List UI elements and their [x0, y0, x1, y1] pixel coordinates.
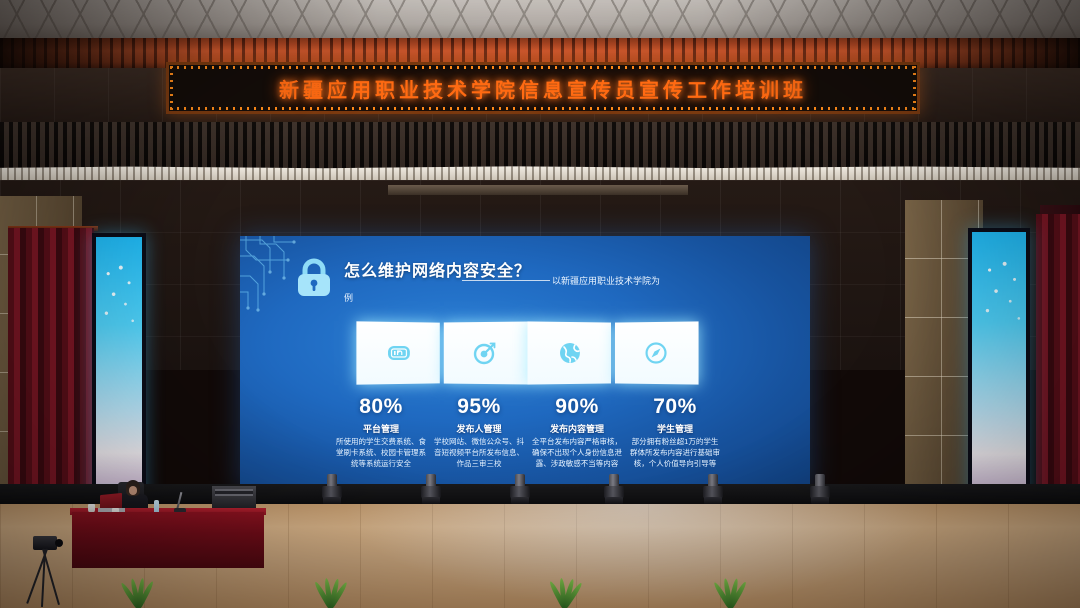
- stat-body: 学校网站、微信公众号、抖音短视频平台所发布信息、作品三审三校: [433, 437, 525, 470]
- presenter-face: [129, 486, 137, 495]
- floor-reflection: [340, 504, 940, 608]
- moving-head-stage-light: [604, 474, 624, 504]
- icon-card-row: [356, 322, 698, 384]
- stat-percent: 95%: [433, 396, 525, 417]
- decorative-plant: [700, 574, 756, 608]
- camera-lens-icon: [55, 539, 63, 547]
- decorative-plant: [534, 574, 590, 608]
- stat-percent: 70%: [629, 396, 721, 417]
- compass-icon: [642, 340, 668, 366]
- stat-item: 90% 发布内容管理 全平台发布内容严格审核，确保不出现个人身份信息泄露、涉政敏…: [528, 396, 626, 470]
- ceiling-shading: [0, 0, 1080, 40]
- curtain-left: [8, 228, 94, 528]
- main-led-screen: 怎么维护网络内容安全？ 以新疆应用职业技术学院为 例: [240, 236, 810, 490]
- icon-card: [356, 321, 439, 384]
- ceiling-lattice: [0, 0, 1080, 40]
- slide-subtitle-wrap: 例: [344, 291, 353, 304]
- icon-card: [614, 321, 697, 384]
- moving-head-stage-light: [703, 474, 723, 504]
- stat-item: 95% 发布人管理 学校网站、微信公众号、抖音短视频平台所发布信息、作品三审三校: [430, 396, 528, 470]
- decorative-plant: [108, 574, 164, 608]
- slide-subtitle: 以新疆应用职业技术学院为: [552, 274, 660, 287]
- camera-tripod: [24, 536, 64, 608]
- stat-title: 学生管理: [629, 422, 721, 435]
- bubble-cluster-icon: [101, 260, 138, 336]
- target-dart-icon: [471, 340, 497, 366]
- stat-item: 80% 平台管理 所使用的学生交费系统、食堂刷卡系统、校园卡管理系统等系统运行安…: [332, 396, 430, 470]
- moving-head-stage-light: [510, 474, 530, 504]
- stat-percent: 80%: [335, 396, 427, 417]
- stage-valance-curtain: [0, 122, 1080, 168]
- moving-head-stage-light: [810, 474, 830, 504]
- moving-head-stage-light: [322, 474, 342, 504]
- stat-body: 所使用的学生交费系统、食堂刷卡系统、校园卡管理系统等系统运行安全: [335, 437, 427, 470]
- decorative-plant: [300, 574, 356, 608]
- stat-percent: 90%: [531, 396, 623, 417]
- stage-base-strip: [0, 484, 1080, 506]
- globe-icon: [557, 340, 583, 366]
- icon-card: [443, 322, 526, 385]
- presenter-table: [72, 512, 264, 568]
- slide-subtitle-rule: [462, 280, 550, 281]
- stat-body: 全平台发布内容严格审核，确保不出现个人身份信息泄露、涉政敏感不当等内容: [531, 437, 623, 470]
- icon-card: [527, 321, 610, 384]
- led-banner: 新疆应用职业技术学院信息宣传员宣传工作培训班: [166, 62, 920, 114]
- stat-title: 发布内容管理: [531, 422, 623, 435]
- auditorium-scene: 新疆应用职业技术学院信息宣传员宣传工作培训班: [0, 0, 1080, 608]
- stat-title: 平台管理: [335, 422, 427, 435]
- in-box-icon: [386, 340, 412, 366]
- led-banner-text: 新疆应用职业技术学院信息宣传员宣传工作培训班: [169, 65, 917, 111]
- moving-head-stage-light: [421, 474, 441, 504]
- stat-body: 部分拥有粉丝超1万的学生群体所发布内容进行基础审核，个人价值导向引导等: [629, 437, 721, 470]
- projector-screen-housing: [388, 185, 688, 195]
- stat-title: 发布人管理: [433, 422, 525, 435]
- statistics-row: 80% 平台管理 所使用的学生交费系统、食堂刷卡系统、校园卡管理系统等系统运行安…: [332, 396, 724, 470]
- padlock-icon: [292, 256, 336, 300]
- slide-title: 怎么维护网络内容安全？: [344, 257, 531, 281]
- stat-item: 70% 学生管理 部分拥有粉丝超1万的学生群体所发布内容进行基础审核，个人价值导…: [626, 396, 724, 470]
- bubble-cluster-icon: [981, 256, 1024, 334]
